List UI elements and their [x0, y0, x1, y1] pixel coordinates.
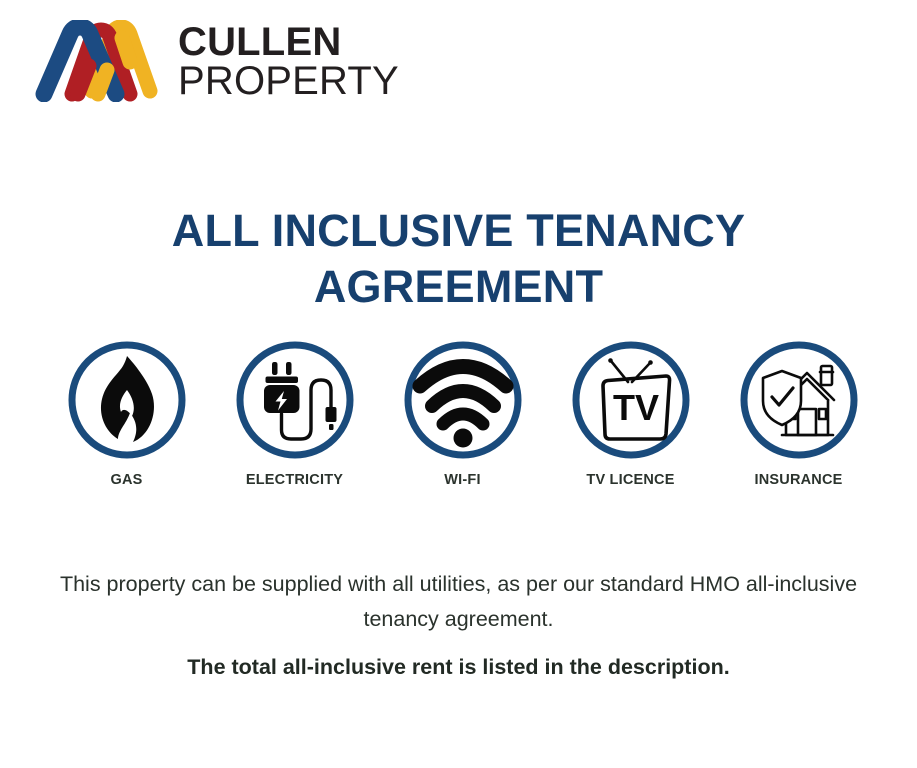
brand-logo: CULLEN PROPERTY: [34, 20, 399, 102]
body-emphasis-line: The total all-inclusive rent is listed i…: [29, 651, 889, 683]
body-paragraph: This property can be supplied with all u…: [39, 567, 879, 637]
poster-canvas: CULLEN PROPERTY ALL INCLUSIVE TENANCY AG…: [0, 0, 917, 768]
cullen-chevron-logo-icon: [34, 20, 160, 102]
brand-name-property: PROPERTY: [178, 63, 399, 100]
utility-item-tv-licence: TV TV LICENCE: [570, 338, 692, 488]
page-title-line-1: ALL INCLUSIVE TENANCY: [0, 203, 917, 259]
utility-item-electricity: ELECTRICITY: [234, 338, 356, 488]
brand-name-cullen: CULLEN: [178, 24, 399, 61]
electric-plug-icon: [234, 338, 356, 466]
tv-screen-text: TV: [612, 387, 658, 428]
utility-item-gas: GAS: [66, 338, 188, 488]
gas-flame-icon: [66, 338, 188, 466]
page-title-line-2: AGREEMENT: [0, 259, 917, 315]
utility-label-wifi: WI-FI: [444, 472, 480, 488]
utility-label-insurance: INSURANCE: [755, 472, 843, 488]
utilities-icon-row: GAS ELECTRICITY: [0, 338, 917, 488]
utility-label-gas: GAS: [110, 472, 142, 488]
utility-item-wifi: WI-FI: [402, 338, 524, 488]
utility-item-insurance: INSURANCE: [738, 338, 860, 488]
house-shield-icon: [738, 338, 860, 466]
television-icon: TV: [570, 338, 692, 466]
page-title: ALL INCLUSIVE TENANCY AGREEMENT: [0, 203, 917, 315]
utility-label-tv-licence: TV LICENCE: [586, 472, 674, 488]
wifi-signal-icon: [402, 338, 524, 466]
utility-label-electricity: ELECTRICITY: [246, 472, 343, 488]
brand-wordmark: CULLEN PROPERTY: [178, 22, 399, 100]
